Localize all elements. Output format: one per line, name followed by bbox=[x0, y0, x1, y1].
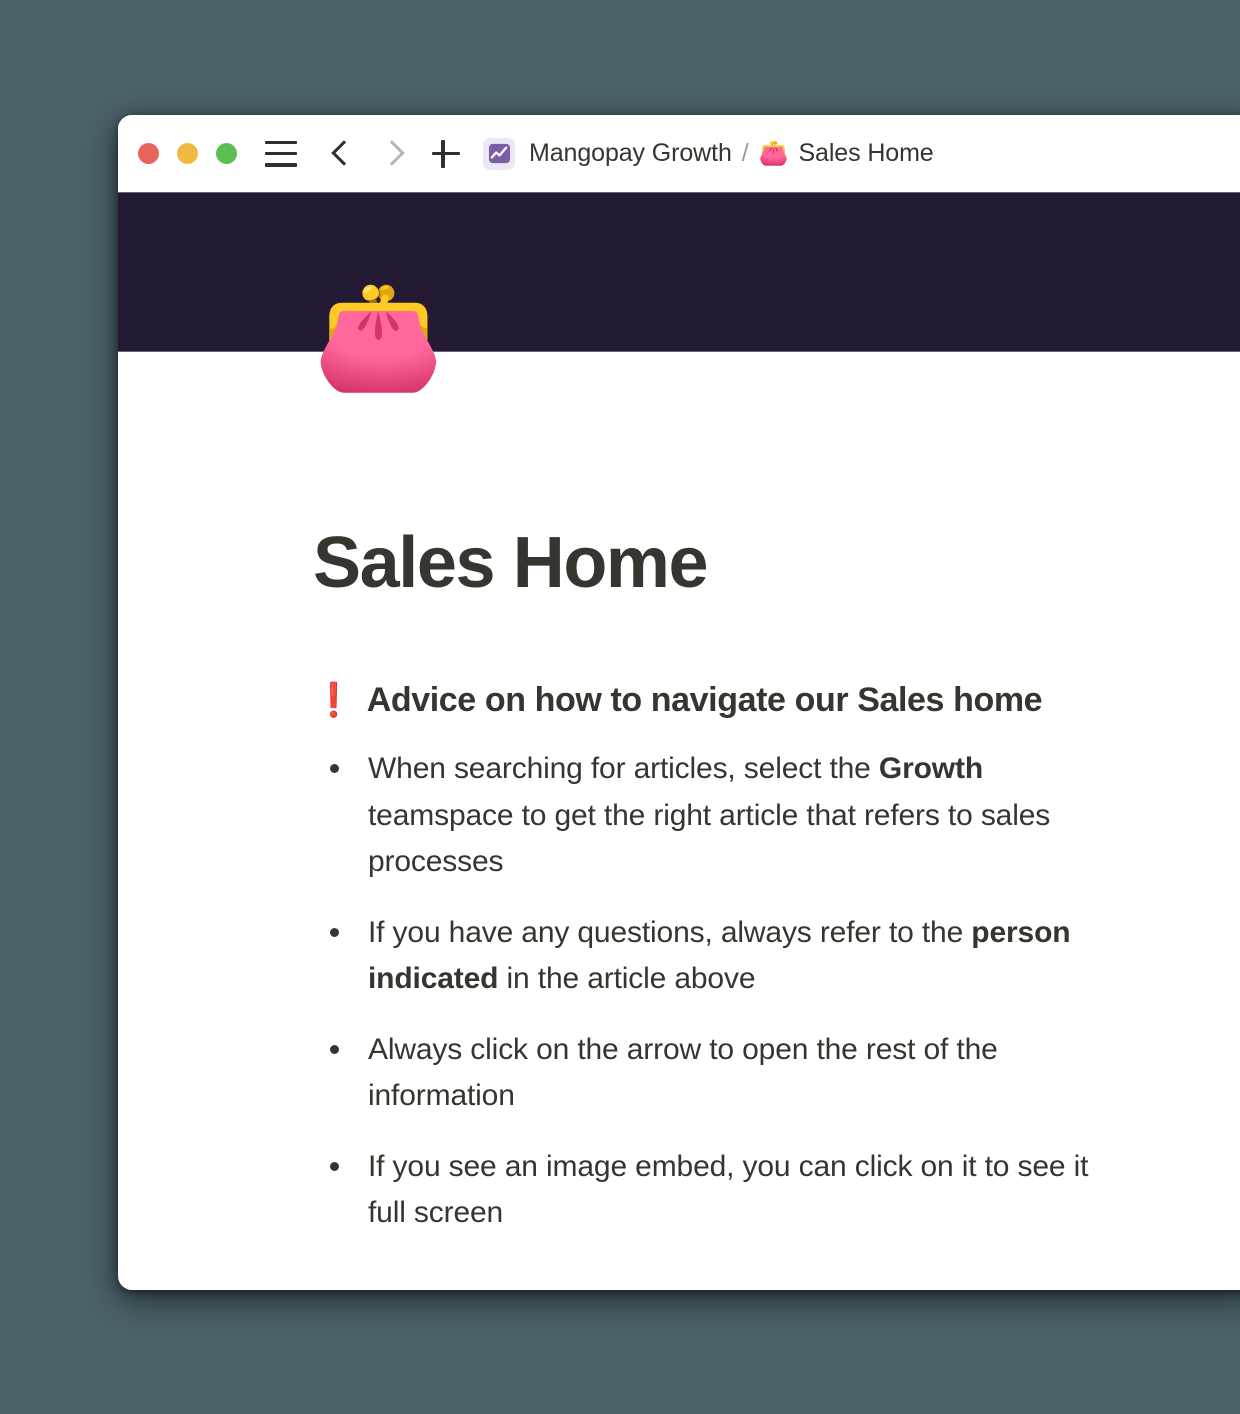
close-button[interactable] bbox=[138, 143, 159, 164]
page-purse-icon[interactable]: 👛 bbox=[313, 284, 444, 389]
list-item[interactable]: If you have any questions, always refer … bbox=[313, 910, 1113, 1003]
page-content: 👛 Sales Home ❗ Advice on how to navigate… bbox=[118, 352, 1240, 1237]
list-item-text: Always click on the arrow to open the re… bbox=[368, 1033, 998, 1113]
hamburger-menu-icon[interactable] bbox=[265, 141, 297, 167]
breadcrumb-workspace[interactable]: Mangopay Growth bbox=[529, 139, 732, 168]
list-item-text: When searching for articles, select the bbox=[368, 752, 879, 785]
purse-icon: 👛 bbox=[759, 142, 789, 166]
window-controls bbox=[138, 143, 237, 164]
minimize-button[interactable] bbox=[177, 143, 198, 164]
app-window: Mangopay Growth / 👛 Sales Home 👛 Sales H… bbox=[118, 115, 1240, 1290]
callout-heading[interactable]: ❗ Advice on how to navigate our Sales ho… bbox=[313, 681, 1138, 720]
exclamation-icon: ❗ bbox=[313, 681, 354, 720]
chevron-right-icon[interactable] bbox=[377, 137, 407, 171]
list-item-text: in the article above bbox=[498, 962, 755, 995]
plus-icon[interactable] bbox=[429, 137, 463, 171]
title-bar: Mangopay Growth / 👛 Sales Home bbox=[118, 115, 1240, 192]
breadcrumb-separator: / bbox=[742, 139, 749, 168]
breadcrumb-page[interactable]: Sales Home bbox=[798, 139, 933, 168]
page-title[interactable]: Sales Home bbox=[313, 524, 1138, 603]
list-item[interactable]: When searching for articles, select the … bbox=[313, 746, 1113, 886]
chevron-left-icon[interactable] bbox=[327, 137, 357, 171]
page-cover-banner[interactable] bbox=[118, 192, 1240, 352]
list-item[interactable]: If you see an image embed, you can click… bbox=[313, 1144, 1113, 1237]
list-item-text: teamspace to get the right article that … bbox=[368, 799, 1050, 879]
line-chart-icon[interactable] bbox=[483, 138, 515, 170]
maximize-button[interactable] bbox=[216, 143, 237, 164]
list-item-text: If you have any questions, always refer … bbox=[368, 916, 971, 949]
list-item[interactable]: Always click on the arrow to open the re… bbox=[313, 1027, 1113, 1120]
callout-heading-text: Advice on how to navigate our Sales home bbox=[367, 681, 1042, 720]
advice-bullet-list: When searching for articles, select the … bbox=[313, 746, 1138, 1237]
list-item-text: If you see an image embed, you can click… bbox=[368, 1150, 1088, 1230]
list-item-emphasis: Growth bbox=[879, 752, 983, 785]
breadcrumb: Mangopay Growth / 👛 Sales Home bbox=[529, 139, 934, 168]
